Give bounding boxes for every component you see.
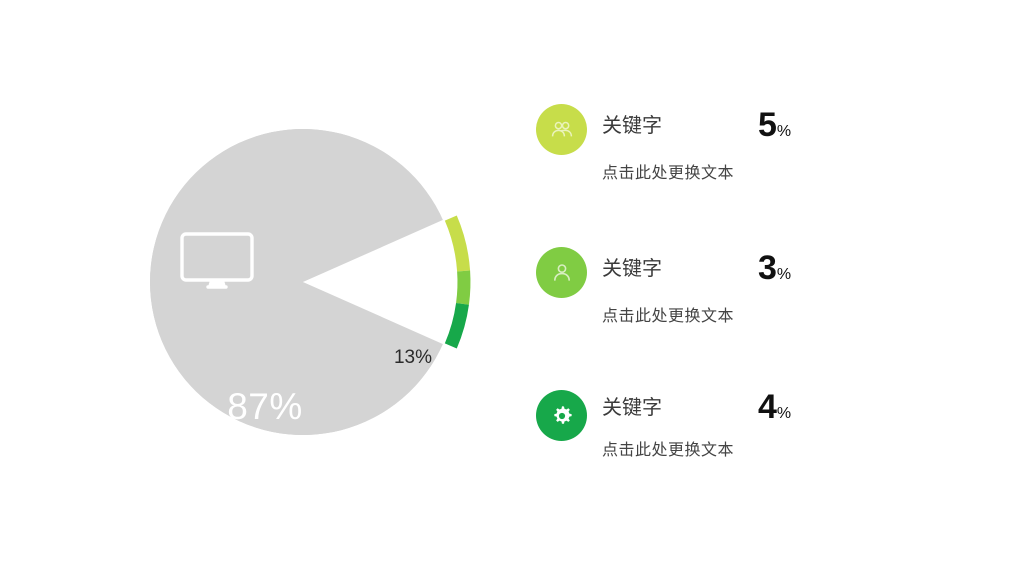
legend-subtitle-1[interactable]: 点击此处更换文本 — [602, 159, 734, 183]
legend-title-3: 关键字 — [602, 396, 662, 418]
legend-row-3: 关键字 4% — [602, 390, 962, 434]
pie-main-percent-label: 87% — [180, 388, 350, 425]
legend-badge-3[interactable] — [536, 390, 587, 441]
pie-arc-segment-2[interactable] — [463, 271, 464, 304]
legend: 关键字 5% 点击此处更换文本 关键字 3% — [536, 104, 976, 504]
legend-number-3: 4 — [758, 388, 777, 426]
legend-title-1: 关键字 — [602, 114, 662, 136]
legend-badge-2[interactable] — [536, 247, 587, 298]
user-single-icon — [548, 259, 576, 287]
legend-subtitle-3[interactable]: 点击此处更换文本 — [602, 436, 734, 460]
legend-unit-1: % — [777, 123, 791, 140]
legend-row-1: 关键字 5% — [602, 108, 962, 152]
pie-chart: 87% 13% — [120, 90, 520, 490]
legend-value-2: 3% — [758, 251, 791, 285]
legend-row-2: 关键字 3% — [602, 251, 962, 295]
legend-number-2: 3 — [758, 249, 777, 287]
legend-unit-3: % — [777, 405, 791, 422]
legend-value-3: 4% — [758, 390, 791, 424]
gear-icon — [549, 403, 575, 429]
legend-number-1: 5 — [758, 106, 777, 144]
legend-unit-2: % — [777, 266, 791, 283]
legend-value-1: 5% — [758, 108, 791, 142]
slide-canvas: 87% 13% 关键字 5% — [0, 0, 1024, 576]
legend-title-2: 关键字 — [602, 257, 662, 279]
users-group-icon — [548, 116, 576, 144]
pie-wedge-percent-label: 13% — [368, 348, 458, 367]
legend-badge-1[interactable] — [536, 104, 587, 155]
pie-chart-svg — [120, 90, 520, 490]
legend-subtitle-2[interactable]: 点击此处更换文本 — [602, 302, 734, 326]
